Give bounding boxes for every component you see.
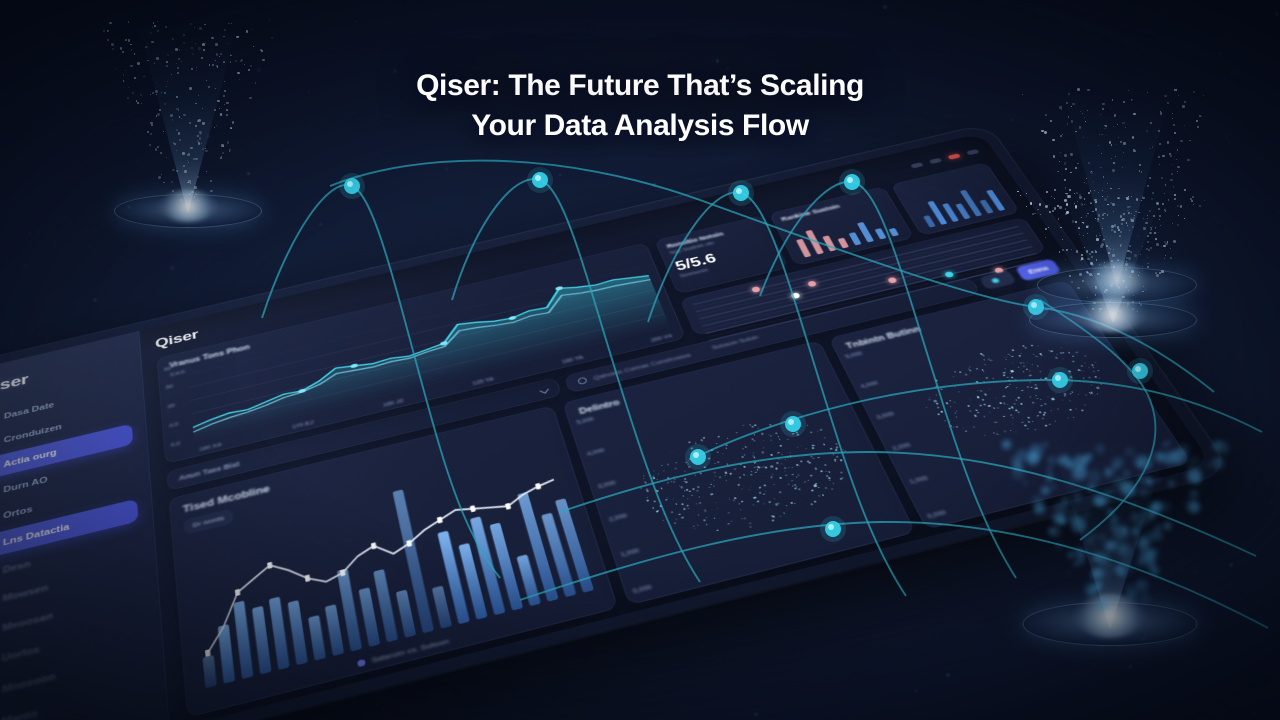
axis-tick-label: 4.0 — [169, 422, 179, 429]
scatter-point — [794, 484, 797, 486]
scatter-point — [713, 472, 716, 474]
axis-tick-label: 3,000 — [597, 480, 617, 490]
axis-tick-label: 0,000 — [632, 584, 653, 595]
scatter-point — [983, 359, 985, 361]
scatter-point — [717, 452, 718, 453]
scatter-point — [1068, 370, 1071, 372]
sidebar-item-7[interactable]: Mowsen — [0, 553, 142, 620]
sidebar-item-9[interactable]: Uorlos — [0, 610, 146, 681]
scatter-point — [759, 486, 762, 488]
scatter-point — [1044, 403, 1047, 405]
scatter-point — [695, 474, 696, 475]
scatter-point — [1006, 356, 1007, 357]
scatter-point — [646, 497, 647, 498]
scatter-point — [1094, 395, 1096, 396]
axis-tick-label: 50 — [165, 384, 175, 391]
scatter-point — [675, 518, 678, 520]
scatter-point — [671, 511, 674, 513]
scatter-point — [1064, 384, 1066, 385]
scatter-point — [818, 495, 820, 496]
scatter-point — [1037, 398, 1038, 399]
scatter-point — [1058, 392, 1060, 393]
scatter-point — [833, 454, 834, 455]
scatter-point — [705, 524, 706, 525]
scatter-point — [820, 470, 823, 472]
scatter-point — [763, 485, 766, 487]
scatter-point — [728, 512, 729, 513]
scatter-point — [983, 371, 984, 372]
sidebar-item-label: Meoosan — [2, 610, 53, 633]
scatter-point — [652, 507, 654, 508]
bar-chart-badge-label: Dr nnnts — [192, 514, 224, 529]
scatter-point — [784, 467, 787, 469]
scatter-point — [792, 474, 793, 475]
scatter-point — [1023, 345, 1026, 347]
sidebar-item-label: Desn — [3, 559, 31, 576]
sidebar-item-label: Durn AO — [3, 475, 47, 495]
scatter-point — [1021, 422, 1023, 423]
scatter-point — [776, 469, 778, 470]
scatter-point — [644, 481, 646, 482]
scatter-point — [1020, 403, 1023, 405]
scatter-point — [1009, 373, 1011, 374]
scatter-point — [807, 425, 808, 426]
scatter-point — [729, 498, 730, 499]
sidebar-item-label: Dasa Date — [4, 400, 54, 420]
scatter-point — [708, 458, 710, 460]
scatter-point — [967, 405, 969, 407]
scatter-point — [697, 486, 699, 488]
scatter-point — [771, 454, 772, 455]
scatter-point — [969, 369, 972, 371]
scatter-point — [744, 466, 747, 468]
scatter-point — [761, 466, 763, 468]
scatter-point — [1013, 403, 1016, 405]
scatter-point — [842, 477, 844, 478]
scatter-point — [1036, 387, 1038, 388]
scatter-point — [789, 452, 790, 453]
scatter-point — [1011, 376, 1014, 378]
scatter-point — [805, 448, 806, 449]
scatter-point — [751, 486, 752, 487]
scatter-point — [809, 431, 812, 433]
scatter-point — [710, 493, 713, 495]
scatter-point — [1025, 347, 1027, 348]
scatter-point — [1041, 406, 1043, 407]
scatter-point — [799, 466, 800, 467]
scatter-point — [1054, 420, 1056, 421]
scatter-point — [798, 474, 801, 476]
scatter-point — [698, 514, 699, 515]
scatter-point — [795, 476, 797, 478]
scatter-point — [784, 471, 785, 472]
scatter-point — [744, 518, 746, 520]
scatter-point — [1018, 396, 1021, 398]
scatter-point — [749, 489, 750, 490]
dashboard-screen: Qiser Dasa DateCronduizenActia ourgDurn … — [0, 133, 1212, 720]
indicator-dot[interactable] — [910, 162, 923, 168]
scatter-point — [1055, 393, 1057, 394]
scatter-point — [743, 454, 745, 456]
scatter-point — [734, 468, 736, 470]
scatter-point — [716, 451, 718, 452]
scatter-point — [1094, 376, 1097, 378]
scatter-point — [719, 476, 722, 478]
scatter-point — [1012, 349, 1015, 351]
scatter-point — [693, 525, 694, 526]
scatter-point — [824, 437, 826, 439]
scatter-point — [986, 377, 989, 379]
scatter-point — [1006, 386, 1009, 388]
scatter-point — [810, 475, 812, 477]
scatter-point — [788, 484, 789, 485]
scatter-point — [684, 471, 686, 473]
scatter-point — [811, 444, 813, 446]
scatter-point — [808, 462, 810, 464]
scatter-point — [685, 461, 688, 463]
sidebar-item-6[interactable]: Desn — [0, 525, 140, 591]
scatter-point — [1008, 384, 1009, 385]
scatter-point — [1008, 354, 1009, 355]
scatter-point — [703, 454, 704, 455]
scatter-point — [973, 426, 976, 428]
scatter-point — [817, 431, 818, 432]
scatter-point — [953, 376, 954, 377]
status-dot-icon — [991, 277, 1000, 283]
scatter-point — [741, 502, 742, 503]
scatter-point — [1039, 411, 1042, 413]
scatter-point — [1036, 356, 1038, 357]
scatter-point — [955, 413, 956, 414]
scatter-point — [1006, 404, 1008, 405]
scatter-point — [790, 502, 792, 504]
scatter-point — [989, 412, 991, 413]
scatter-point — [1036, 398, 1038, 399]
scatter-point — [949, 421, 950, 422]
scatter-1-y-axis: 5,0004,0003,0002,0001,0000,000 — [576, 417, 653, 596]
scatter-point — [1030, 387, 1032, 388]
scatter-point — [674, 479, 676, 480]
scatter-point — [969, 366, 970, 367]
scatter-point — [943, 386, 945, 387]
scatter-point — [829, 479, 830, 480]
scatter-point — [741, 501, 743, 502]
scatter-point — [724, 472, 727, 474]
scatter-point — [1004, 431, 1006, 433]
scatter-point — [780, 463, 782, 465]
scatter-point — [1055, 357, 1058, 359]
scatter-point — [1084, 362, 1086, 363]
scatter-point — [675, 503, 677, 505]
axis-tick-label: 3,000 — [875, 411, 895, 421]
scatter-point — [1063, 358, 1065, 359]
scatter-point — [798, 489, 801, 491]
scatter-point — [742, 448, 744, 449]
scatter-point — [699, 502, 701, 504]
scatter-point — [950, 406, 952, 407]
scatter-point — [835, 449, 838, 451]
scatter-point — [661, 488, 663, 489]
scatter-point — [696, 490, 699, 492]
scatter-point — [1091, 392, 1093, 393]
scatter-point — [1034, 388, 1037, 390]
scatter-point — [995, 422, 997, 423]
sidebar-item-5[interactable]: Lns Datactia — [0, 499, 138, 563]
scatter-point — [736, 432, 738, 433]
scatter-point — [658, 473, 660, 474]
scatter-point — [683, 508, 686, 510]
scatter-point — [1027, 416, 1030, 418]
scatter-point — [653, 478, 655, 480]
scatter-point — [977, 390, 978, 391]
scatter-point — [1027, 362, 1029, 363]
sidebar-item-8[interactable]: Meoosan — [0, 581, 144, 650]
sidebar-item-11[interactable]: Manto — [0, 671, 151, 720]
scatter-point — [725, 448, 727, 449]
sidebar-item-label: Manto — [1, 707, 37, 720]
scatter-point — [828, 471, 830, 473]
scatter-point — [730, 521, 732, 522]
scatter-point — [819, 429, 822, 431]
scatter-point — [684, 481, 685, 482]
scatter-point — [1092, 364, 1094, 366]
scatter-point — [1083, 382, 1084, 383]
scatter-point — [1003, 416, 1005, 418]
scatter-point — [835, 447, 837, 449]
scatter-point — [1035, 395, 1037, 396]
alert-indicator-dot[interactable] — [947, 153, 961, 159]
scatter-point — [796, 431, 799, 433]
scatter-point — [1041, 405, 1043, 406]
scatter-point — [789, 455, 791, 457]
scatter-point — [811, 490, 814, 492]
scatter-point — [982, 355, 984, 356]
scatter-point — [1005, 387, 1007, 388]
scatter-point — [753, 434, 755, 435]
scatter-point — [980, 353, 983, 355]
sidebar-item-label: Ortos — [3, 504, 33, 520]
scatter-point — [703, 466, 705, 468]
scatter-point — [763, 447, 764, 448]
scatter-point — [1002, 395, 1005, 397]
scatter-point — [699, 497, 700, 498]
bar-chart-plot — [187, 441, 598, 689]
scatter-point — [761, 451, 764, 453]
scatter-point — [684, 490, 686, 491]
scatter-point — [749, 526, 752, 528]
scatter-point — [776, 462, 779, 464]
scatter-point — [1040, 378, 1042, 379]
scatter-point — [780, 515, 782, 517]
scatter-point — [1072, 356, 1074, 357]
sidebar-nav-list[interactable]: Dasa DateCronduizenActia ourgDurn AOOrto… — [0, 377, 153, 720]
scatter-point — [1044, 379, 1045, 380]
scatter-point — [680, 486, 683, 488]
scatter-point — [1031, 364, 1032, 365]
scatter-point — [687, 498, 688, 499]
scatter-point — [1080, 365, 1083, 367]
scatter-point — [751, 471, 752, 472]
scatter-point — [1049, 423, 1052, 425]
scatter-point — [1075, 408, 1077, 409]
scatter-point — [936, 403, 939, 405]
scatter-point — [1063, 395, 1066, 397]
scatter-point — [814, 485, 817, 487]
scatter-point — [710, 449, 713, 451]
sidebar-item-10[interactable]: Mnosoon — [0, 640, 148, 713]
scatter-point — [753, 496, 756, 498]
scatter-point — [952, 427, 953, 428]
scatter-point — [1039, 353, 1041, 355]
scatter-point — [822, 494, 824, 495]
scatter-point — [975, 409, 977, 410]
scatter-point — [1089, 392, 1090, 393]
scatter-point — [953, 401, 955, 402]
scatter-point — [740, 463, 742, 465]
scatter-point — [954, 386, 956, 388]
scatter-point — [701, 440, 702, 441]
scatter-point — [791, 467, 793, 469]
scatter-point — [691, 495, 692, 496]
scatter-point — [692, 488, 694, 490]
scatter-point — [1024, 424, 1027, 426]
scatter-point — [769, 424, 771, 426]
scatter-point — [746, 475, 747, 476]
scatter-point — [715, 476, 716, 477]
bar-chart-badge[interactable]: Dr nnnts — [184, 509, 233, 534]
scatter-point — [1072, 360, 1075, 362]
scatter-point — [979, 404, 982, 406]
scatter-point — [773, 484, 774, 485]
scatter-point — [1085, 394, 1087, 395]
scatter-point — [940, 388, 942, 389]
scatter-point — [662, 520, 663, 521]
scatter-point — [711, 484, 712, 485]
scatter-point — [1088, 376, 1091, 378]
scatter-point — [775, 432, 777, 434]
axis-tick-label: 0.0 — [171, 441, 181, 448]
scatter-point — [684, 478, 687, 480]
dropdown-label: Anun Tass Bist — [179, 460, 240, 482]
scatter-point — [1051, 398, 1054, 400]
scatter-point — [996, 434, 997, 435]
scatter-point — [1052, 379, 1055, 381]
dashboard-content: Qiser Vranus Tons Phon EAS — [139, 133, 1212, 720]
scatter-point — [1027, 428, 1028, 429]
scatter-point — [772, 473, 774, 475]
scatter-point — [785, 459, 787, 460]
sidebar-item-12[interactable]: Acome Ban — [0, 703, 153, 720]
scatter-point — [926, 407, 927, 408]
scatter-point — [757, 466, 758, 467]
scatter-point — [840, 478, 843, 480]
scatter-point — [752, 438, 755, 440]
scatter-point — [754, 425, 756, 426]
scatter-point — [713, 517, 715, 519]
scatter-point — [1016, 387, 1018, 389]
scatter-point — [688, 464, 689, 465]
scatter-point — [781, 454, 782, 455]
axis-tick-label: 4,000 — [860, 380, 880, 389]
scatter-point — [705, 517, 706, 518]
scatter-point — [977, 396, 980, 398]
scatter-point — [807, 480, 808, 481]
scatter-point — [666, 499, 668, 500]
scatter-point — [976, 368, 978, 369]
scatter-point — [1009, 384, 1011, 385]
scatter-point — [1003, 372, 1006, 374]
scatter-point — [938, 414, 940, 416]
axis-tick-label: 160 J2 — [383, 398, 405, 408]
scatter-point — [724, 475, 725, 476]
axis-tick-label: 5,000 — [576, 417, 595, 426]
scatter-point — [937, 406, 940, 408]
axis-tick-label: 60 — [164, 366, 173, 373]
scatter-point — [680, 517, 683, 519]
scatter-point — [811, 432, 813, 433]
indicator-dot[interactable] — [929, 157, 942, 163]
scatter-point — [704, 509, 707, 511]
scatter-point — [774, 498, 775, 499]
scatter-point — [771, 440, 772, 441]
scatter-point — [1018, 355, 1021, 357]
scatter-point — [689, 442, 691, 443]
scatter-point — [646, 488, 648, 490]
bar-chart-card: Tised Mcobline Dr nnnts Sataroin vs. Sut… — [169, 405, 619, 717]
scatter-point — [779, 491, 782, 493]
axis-tick-label: 160 YA — [561, 355, 584, 365]
scatter-point — [754, 467, 756, 468]
scatter-point — [667, 464, 669, 465]
scatter-point — [1034, 429, 1036, 431]
scatter-point — [998, 434, 999, 435]
scatter-point — [818, 495, 821, 497]
scatter-point — [834, 459, 836, 460]
scatter-point — [786, 505, 788, 506]
scatter-point — [730, 472, 732, 474]
scatter-point — [750, 474, 752, 476]
dashboard-scene: Qiser Dasa DateCronduizenActia ourgDurn … — [0, 150, 1130, 680]
scatter-point — [842, 478, 843, 479]
scatter-point — [1050, 369, 1052, 370]
scatter-point — [1061, 347, 1062, 348]
scatter-point — [684, 508, 685, 509]
scatter-point — [956, 426, 958, 427]
scatter-point — [704, 448, 705, 449]
scatter-point — [984, 393, 987, 395]
scatter-point — [753, 440, 755, 442]
scatter-point — [769, 502, 771, 503]
axis-tick-label: 200 V4 — [650, 334, 673, 344]
scatter-point — [997, 381, 998, 382]
scatter-point — [742, 518, 743, 519]
scatter-point — [1032, 421, 1034, 422]
scatter-point — [812, 447, 814, 449]
scatter-point — [1010, 414, 1012, 416]
scatter-point — [683, 495, 685, 496]
axis-tick-label: 170 EJ — [292, 420, 314, 430]
scatter-point — [1018, 411, 1021, 413]
scatter-point — [1096, 387, 1099, 389]
scatter-point — [674, 467, 676, 469]
scatter-point — [1037, 365, 1039, 366]
scatter-point — [836, 443, 838, 445]
scatter-point — [1057, 408, 1059, 410]
scatter-point — [1008, 354, 1011, 356]
indicator-dot[interactable] — [966, 149, 980, 155]
scatter-point — [1023, 362, 1025, 363]
scatter-point — [775, 503, 778, 505]
